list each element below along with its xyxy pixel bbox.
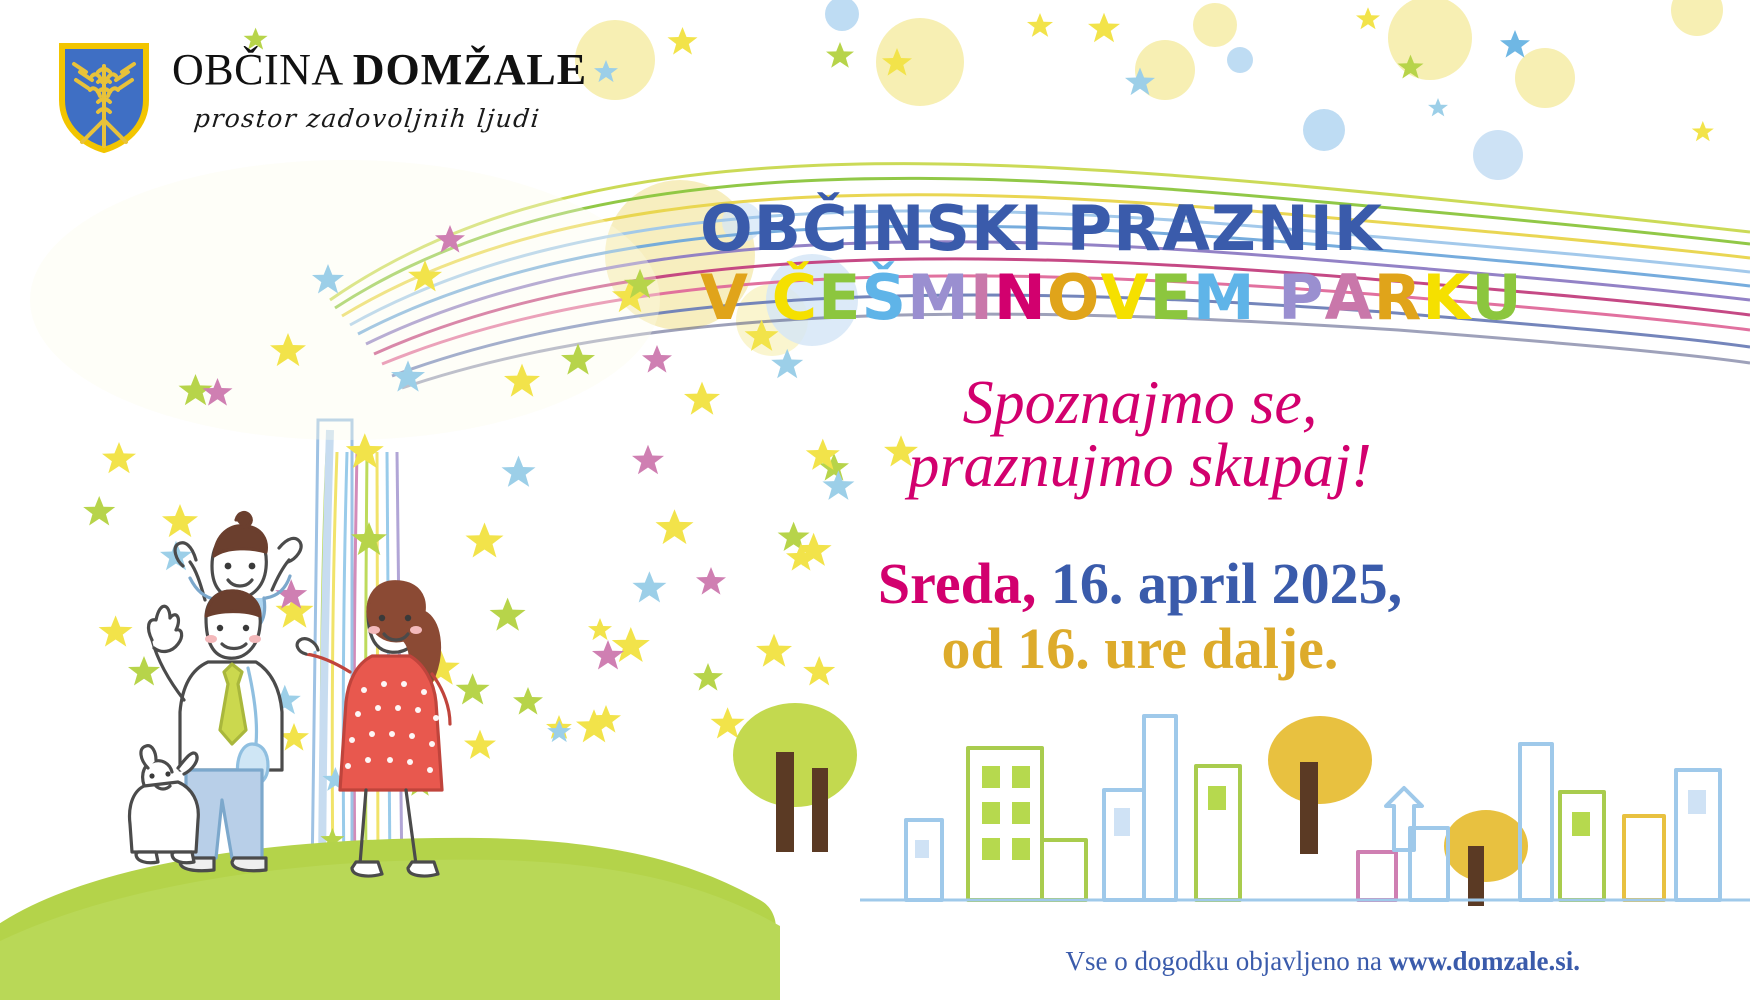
subtitle-line-2: praznujmo skupaj! <box>700 435 1580 498</box>
headline-letter-17: U <box>1471 265 1522 330</box>
headline-letter-11: M <box>1193 265 1256 330</box>
headline-letter-3: E <box>818 265 861 330</box>
subtitle-block: Spoznajmo se, praznujmo skupaj! <box>700 372 1580 498</box>
headline-line-2: V ČEŠMINOVEM PARKU <box>700 265 1580 330</box>
footer-note: Vse o dogodku objavljeno na www.domzale.… <box>700 946 1590 977</box>
logo-title: OBČINA DOMŽALE <box>172 48 587 92</box>
date-time: od 16. ure dalje. <box>942 616 1339 681</box>
date-line-1: Sreda, 16. april 2025, <box>700 552 1580 617</box>
logo-tagline: prostor zadovoljnih ljudi <box>192 104 588 133</box>
obcina-domzale-coat-of-arms <box>58 42 150 154</box>
poster-canvas: OBČINA DOMŽALE prostor zadovoljnih ljudi… <box>0 0 1750 1000</box>
obcina-domzale-logo[interactable]: OBČINA DOMŽALE prostor zadovoljnih ljudi <box>58 42 587 154</box>
headline-line-1: OBČINSKI PRAZNIK <box>700 196 1580 261</box>
footer-website[interactable]: www.domzale.si. <box>1389 946 1580 976</box>
footer-text: Vse o dogodku objavljeno na <box>1066 946 1389 976</box>
headline-letter-12 <box>1256 265 1279 330</box>
headline-letter-15: R <box>1374 265 1423 330</box>
date-day: Sreda, <box>878 551 1036 616</box>
green-meadow <box>0 838 780 1000</box>
date-line-2: od 16. ure dalje. <box>700 617 1580 682</box>
headline-letter-13: P <box>1278 265 1324 330</box>
headline-letter-6: I <box>970 265 994 330</box>
headline-block: OBČINSKI PRAZNIK V ČEŠMINOVEM PARKU <box>700 196 1580 330</box>
headline-letter-1 <box>749 265 772 330</box>
subtitle-line-1: Spoznajmo se, <box>700 372 1580 435</box>
headline-letter-14: A <box>1325 265 1374 330</box>
headline-letter-5: M <box>907 265 970 330</box>
logo-title-bold: DOMŽALE <box>353 45 587 94</box>
headline-letter-8: O <box>1047 265 1101 330</box>
date-full: 16. april 2025, <box>1051 551 1402 616</box>
headline-letter-0: V <box>700 265 749 330</box>
date-block: Sreda, 16. april 2025, od 16. ure dalje. <box>700 552 1580 682</box>
headline-letter-4: Š <box>861 265 907 330</box>
headline-letter-10: E <box>1149 265 1192 330</box>
headline-letter-2: Č <box>772 265 819 330</box>
headline-letter-7: N <box>994 265 1047 330</box>
headline-letter-9: V <box>1101 265 1150 330</box>
headline-letter-16: K <box>1422 265 1471 330</box>
logo-title-plain: OBČINA <box>172 45 341 94</box>
